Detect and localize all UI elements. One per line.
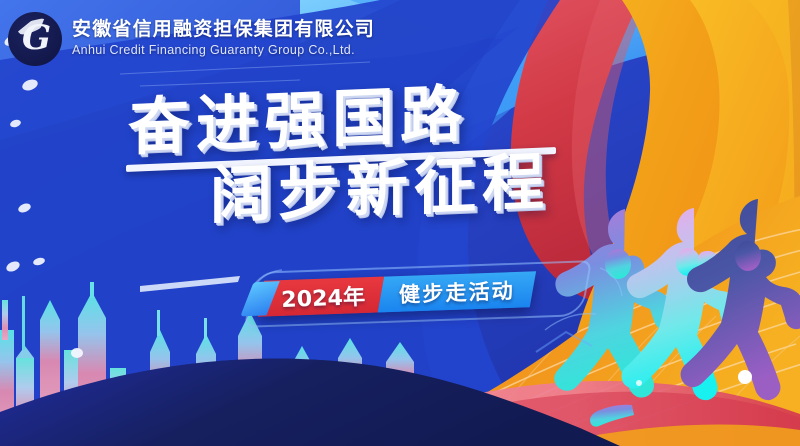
moon-dot xyxy=(71,348,83,358)
sub-banner-activity-label: 健步走活动 xyxy=(399,275,516,309)
poster-canvas: G 安徽省信用融资担保集团有限公司 Anhui Credit Financing… xyxy=(0,0,800,446)
company-logo-block: G 安徽省信用融资担保集团有限公司 Anhui Credit Financing… xyxy=(8,12,375,66)
spark-dot xyxy=(636,380,642,386)
sub-banner-year-label: 2024年 xyxy=(281,279,366,314)
headline-line-2: 阔步新征程 xyxy=(210,145,550,233)
sub-banner-activity-chip: 健步走活动 xyxy=(378,271,536,312)
logo-letter: G xyxy=(9,11,63,65)
logo-mark-icon: G xyxy=(8,12,62,66)
company-name-cn: 安徽省信用融资担保集团有限公司 xyxy=(72,20,375,41)
company-name-en: Anhui Credit Financing Guaranty Group Co… xyxy=(72,44,375,58)
logo-text-block: 安徽省信用融资担保集团有限公司 Anhui Credit Financing G… xyxy=(72,20,375,57)
headline-block: 奋进强国路 阔步新征程 xyxy=(0,84,800,226)
headline-row-2: 阔步新征程 xyxy=(0,152,800,226)
knee-highlight xyxy=(738,370,752,384)
headline-row-1: 奋进强国路 xyxy=(0,84,800,158)
